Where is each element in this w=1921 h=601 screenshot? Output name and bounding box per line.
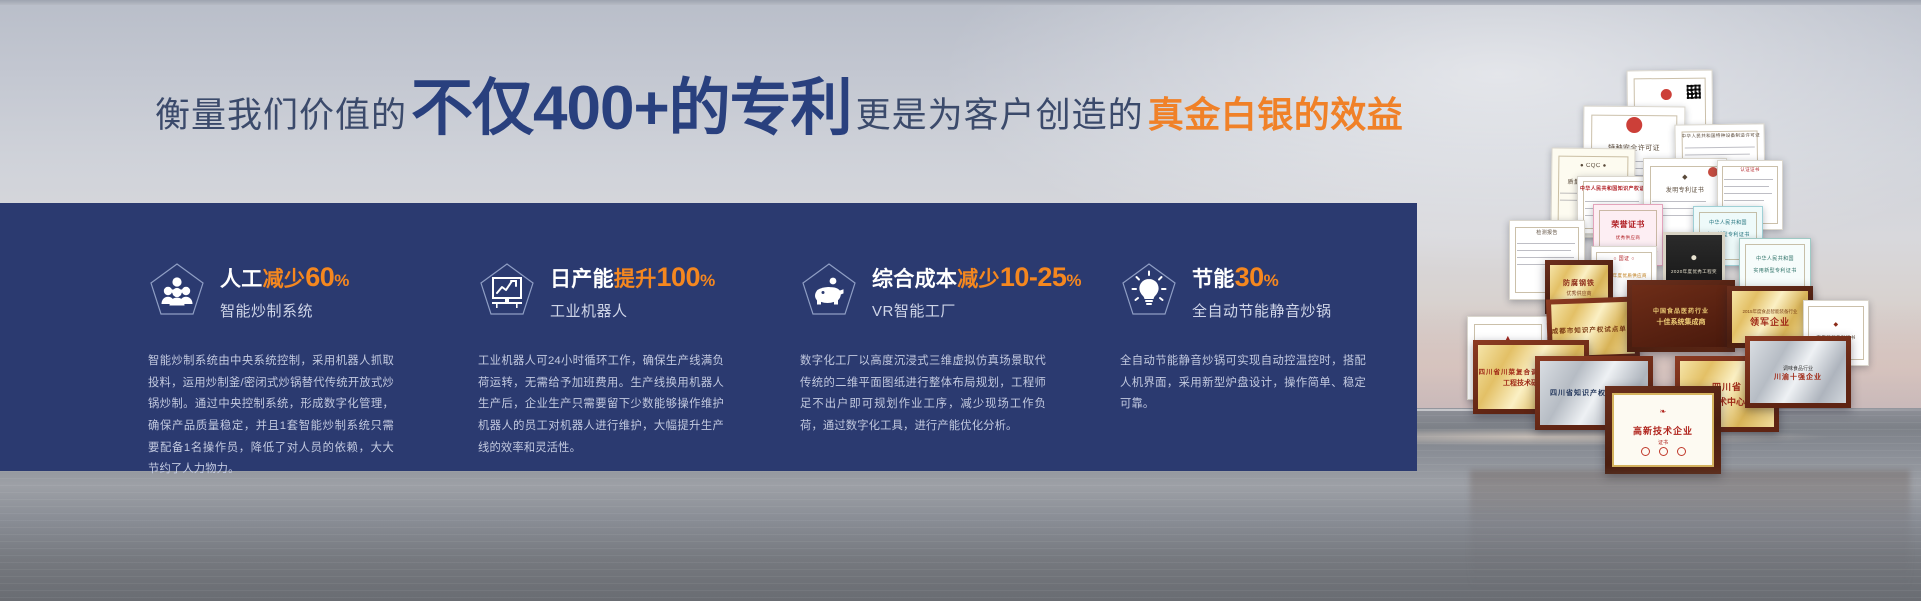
- feature-title-highlight: 提升: [614, 268, 657, 291]
- plaque-text: 中国食品医药行业: [1653, 306, 1709, 315]
- feature-body: 工业机器人可24小时循环工作，确保生产线满负荷运转，无需给予加班费用。生产线换用…: [478, 351, 724, 459]
- feature-title-number: 60: [305, 262, 334, 292]
- feature-title-number: 10-25: [1000, 262, 1067, 292]
- headline-accent: 真金白银的效益: [1148, 86, 1404, 138]
- feature-header: 人工减少60% 智能炒制系统: [148, 261, 350, 321]
- certificate-reflection: [1470, 470, 1910, 590]
- feature-title: 人工减少60%: [220, 263, 350, 291]
- people-group-icon: [148, 261, 206, 319]
- feature-title: 节能30%: [1192, 263, 1332, 291]
- plaque-sub: 优秀供应商: [1566, 290, 1591, 297]
- headline-mid: 更是为客户创造的: [856, 87, 1144, 138]
- top-edge-strip: [0, 0, 1921, 5]
- feature-subtitle: 智能炒制系统: [220, 300, 350, 321]
- lightbulb-icon: [1120, 261, 1178, 319]
- feature-title: 综合成本减少10-25%: [872, 263, 1082, 291]
- plaque-text: 领军企业: [1750, 315, 1790, 328]
- banner-stage: 衡量我们价值的 不仅400+的专利 更是为客户创造的 真金白银的效益: [0, 0, 1921, 601]
- feature-title-highlight: 减少: [957, 268, 1000, 291]
- plaque-text: 防腐钢铁: [1563, 278, 1595, 288]
- plaque-sub: 调味食品行业: [1783, 365, 1813, 372]
- plaque-text: 高新技术企业: [1633, 424, 1693, 437]
- feature-titles: 综合成本减少10-25% VR智能工厂: [872, 261, 1082, 321]
- feature-item-3: 综合成本减少10-25% VR智能工厂 数字化工厂以高度沉浸式三维虚拟仿真场景取…: [800, 203, 1130, 471]
- feature-title-unit: %: [700, 271, 715, 290]
- feature-item-4: 节能30% 全自动节能静音炒锅 全自动节能静音炒锅可实现自动控温控时，搭配人机界…: [1120, 203, 1450, 471]
- feature-titles: 日产能提升100% 工业机器人: [550, 261, 716, 321]
- feature-title-prefix: 综合成本: [872, 268, 957, 291]
- feature-body: 全自动节能静音炒锅可实现自动控温控时，搭配人机界面，采用新型炉盘设计，操作简单、…: [1120, 351, 1366, 416]
- headline-emphasis: 不仅400+的专利: [411, 78, 852, 140]
- feature-item-2: 日产能提升100% 工业机器人 工业机器人可24小时循环工作，确保生产线满负荷运…: [478, 203, 808, 471]
- feature-subtitle: 工业机器人: [550, 300, 716, 321]
- feature-title-unit: %: [1066, 271, 1081, 290]
- feature-subtitle: VR智能工厂: [872, 300, 1082, 321]
- award-plaque: 调味食品行业 川渝十强企业: [1745, 336, 1851, 408]
- feature-title-number: 100: [657, 262, 701, 292]
- feature-title: 日产能提升100%: [550, 263, 716, 291]
- feature-title-unit: %: [1264, 271, 1279, 290]
- award-plaque: 中国食品医药行业 十佳系统集成商: [1627, 280, 1735, 352]
- plaque-text: 川渝十强企业: [1774, 372, 1822, 382]
- feature-titles: 节能30% 全自动节能静音炒锅: [1192, 261, 1332, 321]
- plaque-text: 成都市知识产权试点单位: [1552, 323, 1635, 336]
- feature-title-highlight: 减少: [263, 268, 306, 291]
- feature-title-prefix: 日产能: [550, 268, 614, 291]
- feature-body: 数字化工厂以高度沉浸式三维虚拟仿真场景取代传统的二维平面图纸进行整体布局规划，工…: [800, 351, 1046, 438]
- headline: 衡量我们价值的 不仅400+的专利 更是为客户创造的 真金白银的效益: [155, 78, 1403, 148]
- feature-title-prefix: 节能: [1192, 268, 1235, 291]
- headline-lead: 衡量我们价值的: [155, 87, 407, 138]
- feature-subtitle: 全自动节能静音炒锅: [1192, 300, 1332, 321]
- feature-title-prefix: 人工: [220, 268, 263, 291]
- plaque-sub: 证书: [1658, 439, 1668, 446]
- chart-board-icon: [478, 261, 536, 319]
- feature-header: 节能30% 全自动节能静音炒锅: [1120, 261, 1332, 321]
- feature-title-unit: %: [334, 271, 349, 290]
- feature-body: 智能炒制系统由中央系统控制，采用机器人抓取投料，运用炒制釜/密闭式炒锅替代传统开…: [148, 351, 394, 481]
- piggy-bank-icon: [800, 261, 858, 319]
- award-plaque-featured: ❧ 高新技术企业 证书: [1605, 386, 1721, 474]
- plaque-sub: 十佳系统集成商: [1657, 317, 1706, 327]
- feature-titles: 人工减少60% 智能炒制系统: [220, 261, 350, 321]
- feature-title-number: 30: [1235, 262, 1264, 292]
- feature-item-1: 人工减少60% 智能炒制系统 智能炒制系统由中央系统控制，采用机器人抓取投料，运…: [148, 203, 478, 471]
- feature-header: 日产能提升100% 工业机器人: [478, 261, 716, 321]
- feature-header: 综合成本减少10-25% VR智能工厂: [800, 261, 1082, 321]
- feature-panel: 人工减少60% 智能炒制系统 智能炒制系统由中央系统控制，采用机器人抓取投料，运…: [0, 203, 1417, 471]
